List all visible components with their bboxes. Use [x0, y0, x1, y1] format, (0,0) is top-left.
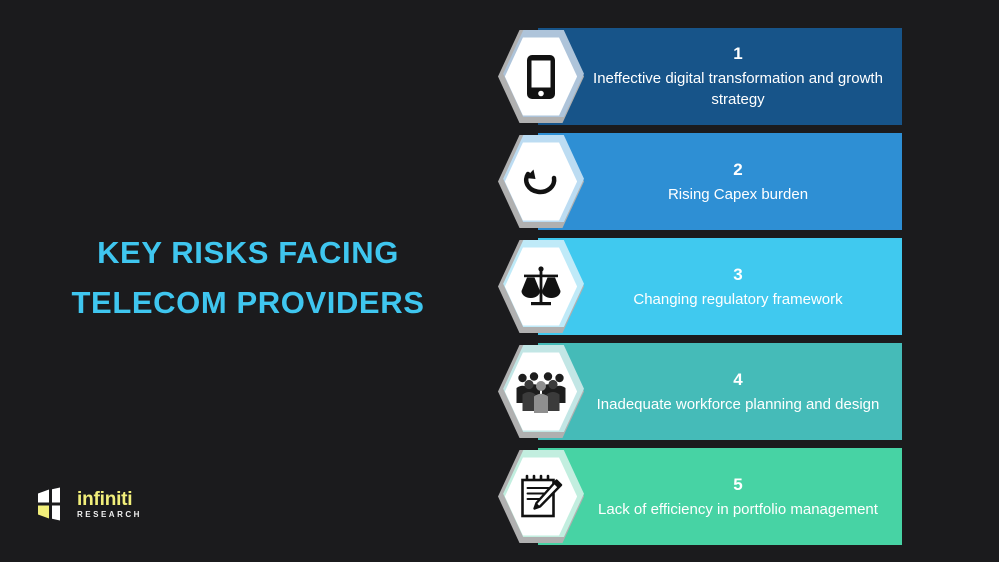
risk-number: 1	[733, 43, 742, 65]
mobile-phone-icon	[498, 30, 584, 123]
risk-label: Changing regulatory framework	[633, 289, 842, 310]
risk-text: 2 Rising Capex burden	[578, 133, 898, 230]
risk-label: Inadequate workforce planning and design	[597, 394, 880, 415]
risk-number: 4	[733, 369, 742, 391]
notepad-pencil-icon	[498, 450, 584, 543]
risk-icon-badge	[498, 345, 584, 438]
title-line-2: TELECOM PROVIDERS	[38, 278, 458, 328]
risk-label: Rising Capex burden	[668, 184, 808, 205]
risk-icon-badge	[498, 450, 584, 543]
risk-label: Ineffective digital transformation and g…	[588, 68, 888, 110]
risk-list: 1 Ineffective digital transformation and…	[498, 28, 902, 553]
risk-text: 1 Ineffective digital transformation and…	[578, 28, 898, 125]
risk-number: 3	[733, 264, 742, 286]
brand-logo: infiniti RESEARCH	[36, 487, 142, 521]
risk-icon-badge	[498, 135, 584, 228]
risk-text: 4 Inadequate workforce planning and desi…	[578, 343, 898, 440]
list-item[interactable]: 2 Rising Capex burden	[498, 133, 902, 230]
risk-text: 3 Changing regulatory framework	[578, 238, 898, 335]
logo-name: infiniti	[77, 490, 142, 509]
group-of-people-icon	[498, 345, 584, 438]
risk-icon-badge	[498, 240, 584, 333]
risk-number: 5	[733, 474, 742, 496]
list-item[interactable]: 1 Ineffective digital transformation and…	[498, 28, 902, 125]
risk-icon-badge	[498, 30, 584, 123]
rotate-arrow-icon	[498, 135, 584, 228]
risk-text: 5 Lack of efficiency in portfolio manage…	[578, 448, 898, 545]
slide-canvas: KEY RISKS FACING TELECOM PROVIDERS	[0, 0, 999, 562]
logo-subtitle: RESEARCH	[77, 511, 142, 519]
infiniti-logo-mark-icon	[36, 487, 70, 521]
list-item[interactable]: 3 Changing regulatory framework	[498, 238, 902, 335]
logo-wordmark: infiniti RESEARCH	[77, 490, 142, 519]
risk-label: Lack of efficiency in portfolio manageme…	[598, 499, 878, 520]
list-item[interactable]: 4 Inadequate workforce planning and desi…	[498, 343, 902, 440]
list-item[interactable]: 5 Lack of efficiency in portfolio manage…	[498, 448, 902, 545]
title-line-1: KEY RISKS FACING	[38, 228, 458, 278]
scales-of-justice-icon	[498, 240, 584, 333]
risk-number: 2	[733, 159, 742, 181]
page-title: KEY RISKS FACING TELECOM PROVIDERS	[38, 228, 458, 328]
